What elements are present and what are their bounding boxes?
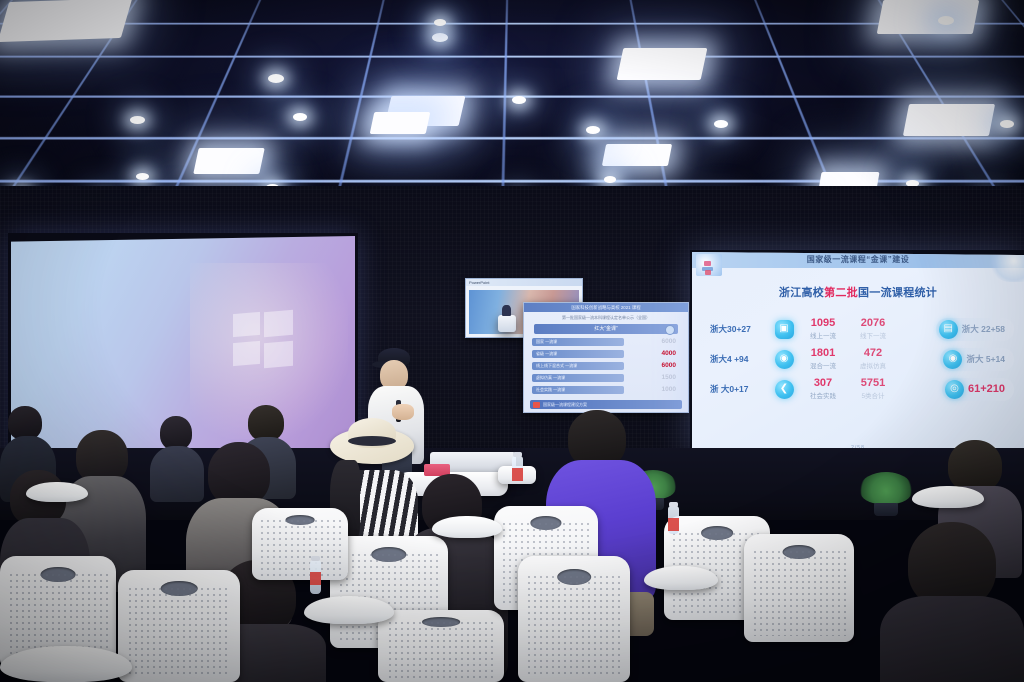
- ceiling-downlight: [293, 113, 307, 121]
- icon-glyph: ❮: [780, 384, 788, 394]
- row-label: 线上线下混合式 一流课: [532, 362, 624, 370]
- ceiling-panel-light: [617, 48, 708, 80]
- list-item: 省级 一流课 4000: [532, 349, 680, 358]
- pill-label: 浙大 22+58: [962, 323, 1005, 335]
- icon-glyph: ◎: [950, 384, 959, 394]
- section-header-label: 红大“金课”: [594, 326, 617, 332]
- chair-tablet-desk: [26, 482, 88, 502]
- audience-chair[interactable]: [118, 570, 240, 682]
- ceiling-downlight: [604, 176, 616, 183]
- stat-number: 1095: [798, 318, 848, 330]
- stat-cell: 1801 混合一流: [798, 348, 848, 371]
- stat-caption: 混合一流: [798, 360, 848, 370]
- row-label: 国家 一流课: [532, 338, 624, 346]
- title-highlight: 第二批: [824, 287, 858, 299]
- pill-cell: ◎ 61+210: [898, 378, 1014, 401]
- icon-glyph: ◉: [780, 354, 789, 364]
- ceiling-downlight: [130, 116, 145, 124]
- slide-section-header: 红大“金课”: [534, 324, 678, 334]
- pill-label: 61+210: [968, 383, 1005, 395]
- row-left-label: 浙大30+27: [710, 323, 770, 335]
- row-value: 4000: [624, 350, 680, 357]
- footer-icon: [533, 402, 540, 408]
- row-value: 1500: [624, 374, 680, 381]
- social-practice-icon: ❮: [770, 380, 798, 399]
- ceiling-panel-light: [193, 148, 265, 174]
- slide-footer-bar: 国家级一流课程建设方案: [530, 400, 682, 409]
- water-bottle: [668, 506, 679, 534]
- list-item: 国家 一流课 6000: [532, 337, 680, 346]
- stat-number: 472: [848, 348, 898, 360]
- ceiling-panel-light: [370, 112, 431, 134]
- corner-watermark-icon: [990, 252, 1024, 282]
- background-window-title: PowerPoint: [466, 279, 582, 286]
- institution-logo-icon: [696, 254, 722, 276]
- stat-number: 2076: [848, 318, 898, 330]
- ceiling-panel-light: [877, 0, 980, 34]
- stat-caption: 线上一流: [798, 330, 848, 340]
- row-label: 省级 一流课: [532, 350, 624, 358]
- list-item: 虚拟仿真 一流课 1500: [532, 373, 680, 382]
- water-bottle: [310, 560, 321, 594]
- slide-title: 浙江高校第二批国一流课程统计: [692, 284, 1024, 300]
- online-course-icon: ▣: [770, 320, 798, 339]
- ceiling-panel-light: [0, 0, 132, 42]
- offline-course-icon: ▤: [939, 320, 958, 339]
- icon-glyph: ◉: [949, 354, 958, 364]
- ceiling-downlight: [512, 96, 526, 104]
- hat-band: [348, 436, 396, 446]
- audience-chair[interactable]: [518, 556, 630, 682]
- ceiling-downlight: [586, 126, 600, 134]
- icon-glyph: ▤: [944, 324, 953, 334]
- potted-plant: [860, 472, 912, 516]
- presenter-slide-window[interactable]: 国家科技创新战略与高校 2021 课程 第一批国家级一流本科课程认定名单公示（全…: [523, 302, 689, 413]
- icon-glyph: ▣: [779, 324, 788, 334]
- title-prefix: 浙江高校: [779, 287, 824, 299]
- list-item: 线上线下混合式 一流课 6000: [532, 361, 680, 370]
- audience-chair[interactable]: [744, 534, 854, 642]
- stat-caption: 线下一流: [848, 330, 898, 340]
- stat-number: 1801: [798, 348, 848, 360]
- stat-caption: 虚拟仿真: [848, 360, 898, 370]
- row-value: 6000: [624, 362, 680, 369]
- ceiling-downlight: [938, 16, 954, 25]
- table-row: 浙大30+27 ▣ 1095 线上一流 2076 线下一流 ▤: [710, 314, 1014, 344]
- ceiling-downlight: [714, 120, 728, 128]
- lecture-hall-photo: PowerPoint 国家科技创新战略与高校 2021 课程 第一批国家级一流本…: [0, 0, 1024, 682]
- chair-tablet-desk: [0, 646, 132, 682]
- pill-cell: ▤ 浙大 22+58: [898, 318, 1014, 341]
- ceiling-downlight: [434, 19, 446, 26]
- stat-number: 307: [798, 378, 848, 390]
- stat-cell: 1095 线上一流: [798, 318, 848, 341]
- right-projection-screen[interactable]: 国家级一流课程“金课”建设 浙江高校第二批国一流课程统计 浙大30+27 ▣ 1…: [690, 250, 1024, 455]
- stat-cell: 5751 5类合计: [848, 378, 898, 401]
- row-left-label: 浙 大0+17: [710, 383, 770, 395]
- stat-cell: 307 社会实践: [798, 378, 848, 401]
- ceiling-downlight: [1000, 120, 1014, 128]
- stat-number: 5751: [848, 378, 898, 390]
- simulation-icon: ◉: [943, 350, 962, 369]
- chair-tablet-desk: [912, 486, 984, 508]
- ceiling-downlight: [432, 33, 448, 42]
- table-row: 浙大4 +94 ◉ 1801 混合一流 472 虚拟仿真 ◉: [710, 344, 1014, 374]
- ceiling-downlight: [268, 74, 284, 83]
- title-suffix: 国一流课程统计: [858, 287, 937, 299]
- stat-cell: 2076 线下一流: [848, 318, 898, 341]
- stat-caption: 5类合计: [848, 390, 898, 400]
- row-value: 1000: [624, 386, 680, 393]
- row-left-label: 浙大4 +94: [710, 353, 770, 365]
- total-icon: ◎: [945, 380, 964, 399]
- pill-label: 浙大 5+14: [966, 353, 1005, 365]
- list-item: 社会实践 一流课 1000: [532, 385, 680, 394]
- section-badge-icon: [665, 325, 675, 335]
- slide-header-text: 国家级一流课程“金课”建设: [692, 252, 1024, 268]
- chair-tablet-desk: [644, 566, 718, 590]
- audience-chair[interactable]: [378, 610, 504, 682]
- stat-caption: 社会实践: [798, 390, 848, 400]
- footer-label: 国家级一流课程建设方案: [543, 402, 587, 408]
- slide-window-subtitle: 第一批国家级一流本科课程认定名单公示（全国）: [524, 315, 688, 321]
- row-label: 虚拟仿真 一流课: [532, 374, 624, 382]
- slide-header-band: 国家级一流课程“金课”建设: [692, 252, 1024, 268]
- audience-member: [880, 522, 1024, 682]
- slide-window-title: 国家科技创新战略与高校 2021 课程: [524, 303, 688, 312]
- stat-cell: 472 虚拟仿真: [848, 348, 898, 371]
- ceiling-downlight: [136, 173, 149, 180]
- pill-cell: ◉ 浙大 5+14: [898, 348, 1014, 371]
- center-presenter-monitor[interactable]: PowerPoint 国家科技创新战略与高校 2021 课程 第一批国家级一流本…: [461, 276, 689, 413]
- ceiling-panel-light: [903, 104, 995, 136]
- table-row: 浙 大0+17 ❮ 307 社会实践 5751 5类合计 ◎: [710, 374, 1014, 404]
- windows-logo-icon: [233, 313, 293, 365]
- chair-tablet-desk: [432, 516, 502, 538]
- water-bottle: [512, 456, 523, 480]
- ceiling-panel-light: [602, 144, 672, 166]
- chair-tablet-desk: [304, 596, 394, 624]
- row-label: 社会实践 一流课: [532, 386, 624, 394]
- presentation-slide: 国家级一流课程“金课”建设 浙江高校第二批国一流课程统计 浙大30+27 ▣ 1…: [692, 252, 1024, 453]
- row-value: 6000: [624, 338, 680, 345]
- slide-stats-table: 浙大30+27 ▣ 1095 线上一流 2076 线下一流 ▤: [710, 314, 1014, 404]
- audience-chair[interactable]: [252, 508, 348, 580]
- mixed-course-icon: ◉: [770, 350, 798, 369]
